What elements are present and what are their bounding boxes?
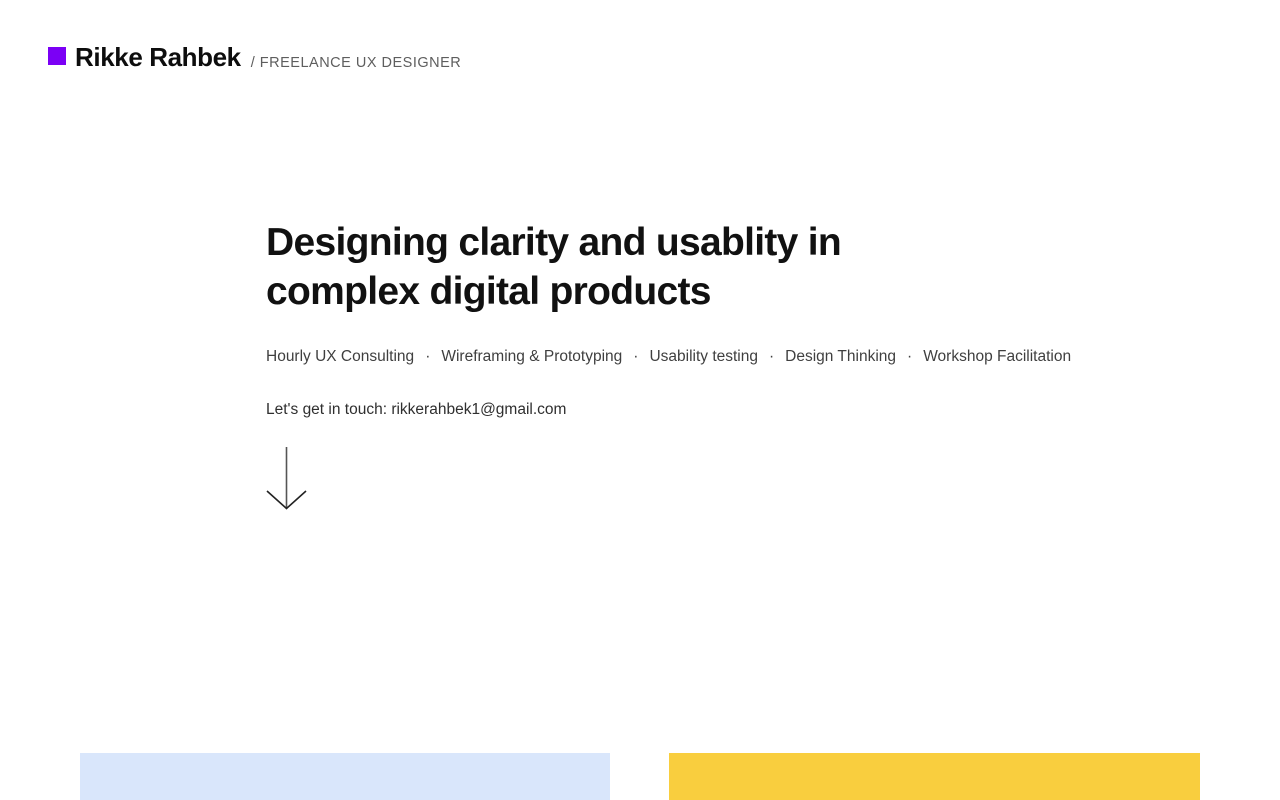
service-item-usability-testing: Usability testing	[649, 349, 758, 365]
service-item-workshop-facilitation: Workshop Facilitation	[923, 349, 1071, 365]
services-list: Hourly UX Consulting · Wireframing & Pro…	[266, 349, 1071, 365]
arrow-down-icon	[264, 444, 310, 514]
contact-label: Let's get in touch:	[266, 401, 387, 418]
blue-panel[interactable]	[80, 753, 610, 800]
contact-line: Let's get in touch: rikkerahbek1@gmail.c…	[266, 402, 566, 418]
service-item-hourly-ux-consulting: Hourly UX Consulting	[266, 349, 414, 365]
page-title-line-2: complex digital products	[266, 270, 711, 313]
brand-role: / FREELANCE UX DESIGNER	[251, 56, 462, 71]
hero-section: Designing clarity and usablity in comple…	[266, 218, 1166, 316]
service-separator: ·	[896, 349, 923, 365]
page-title: Designing clarity and usablity in comple…	[266, 218, 866, 316]
service-separator: ·	[414, 349, 441, 365]
site-header: Rikke Rahbek / FREELANCE UX DESIGNER	[0, 0, 1280, 100]
service-item-wireframing-prototyping: Wireframing & Prototyping	[441, 349, 622, 365]
contact-email-link[interactable]: rikkerahbek1@gmail.com	[391, 401, 566, 418]
brand[interactable]: Rikke Rahbek / FREELANCE UX DESIGNER	[48, 44, 461, 70]
page-title-line-1: Designing clarity and usablity in	[266, 221, 841, 264]
brand-square-icon	[48, 47, 66, 65]
service-separator: ·	[622, 349, 649, 365]
scroll-down-button[interactable]	[264, 444, 310, 514]
service-separator: ·	[758, 349, 785, 365]
yellow-panel[interactable]	[669, 753, 1200, 800]
color-blocks-row	[0, 753, 1280, 800]
brand-name: Rikke Rahbek	[75, 44, 241, 70]
service-item-design-thinking: Design Thinking	[785, 349, 896, 365]
